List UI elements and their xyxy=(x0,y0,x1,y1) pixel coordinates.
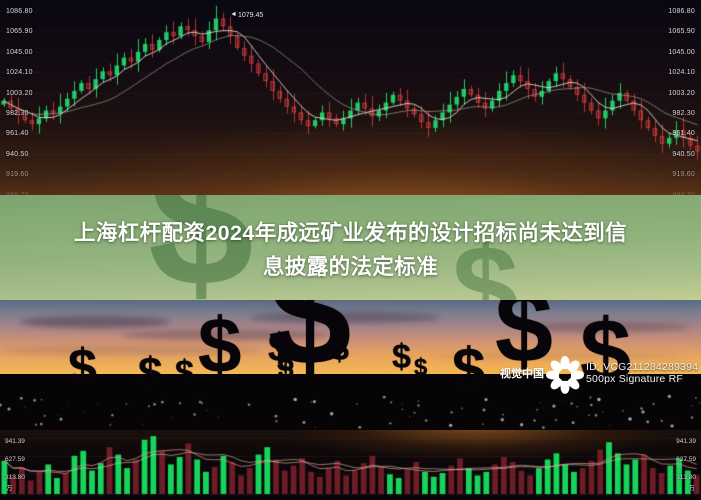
price-axis-label: 940.50 xyxy=(6,151,29,158)
dollar-silhouette: $ xyxy=(175,360,194,387)
price-axis-label: 982.30 xyxy=(672,110,695,117)
price-axis-label: 961.40 xyxy=(6,130,29,137)
volume-axis-label: 313.80 xyxy=(5,474,25,481)
dollar-silhouette: $ xyxy=(198,314,241,376)
candlestick-canvas xyxy=(0,0,701,200)
price-axis-label: 919.60 xyxy=(672,171,695,178)
price-axis-label: 1003.20 xyxy=(668,90,695,97)
volume-chart-panel: 941.39627.59313.80 941.39627.59313.80 万 … xyxy=(0,430,701,500)
watermark-license: 500px Signature RF xyxy=(586,373,698,385)
annotation-arrow-icon: ◄ xyxy=(230,11,237,18)
price-axis-label: 1065.90 xyxy=(6,28,33,35)
price-axis-label: 1024.10 xyxy=(6,69,33,76)
price-axis-label: 1045.00 xyxy=(668,49,695,56)
volume-axis-label: 627.59 xyxy=(676,456,696,463)
volume-unit-left: 万 xyxy=(6,482,13,492)
price-axis-label: 1003.20 xyxy=(6,90,33,97)
dollar-silhouette: $ xyxy=(278,358,294,380)
sunset-photo: $ $ $ $ $ $ $ $ $ $ $ $ $ $ 视觉中国 ID: VCG… xyxy=(0,300,701,430)
volume-axis-label: 941.39 xyxy=(676,438,696,445)
headline-line-2: 息披露的法定标准 xyxy=(263,250,438,281)
dollar-silhouette: $ xyxy=(452,346,485,394)
dollar-silhouette: $ xyxy=(414,358,427,377)
price-axis-label: 961.40 xyxy=(672,130,695,137)
headline-line-1: 上海杠杆配资2024年成远矿业发布的设计招标尚未达到信 xyxy=(74,216,627,247)
price-annotation: ◄1079.45 xyxy=(230,12,263,19)
screenshot-root: 1086.801065.901045.001024.101003.20982.3… xyxy=(0,0,701,500)
volume-axis-label: 941.39 xyxy=(5,438,25,445)
price-axis-label: 1024.10 xyxy=(668,69,695,76)
price-axis-label: 982.30 xyxy=(6,110,29,117)
volume-unit-right: 万 xyxy=(689,482,696,492)
price-chart-panel: 1086.801065.901045.001024.101003.20982.3… xyxy=(0,0,701,200)
volume-canvas xyxy=(0,430,701,500)
volume-axis-label: 627.59 xyxy=(5,456,25,463)
price-axis-label: 1086.80 xyxy=(668,8,695,15)
volume-axis-label: 313.80 xyxy=(676,474,696,481)
watermark-id: ID: VCG211284289394 xyxy=(586,361,698,373)
price-axis-label: 1065.90 xyxy=(668,28,695,35)
watermark: 视觉中国 ID: VCG211284289394 500px Signature… xyxy=(500,356,698,390)
watermark-brand: 视觉中国 xyxy=(500,365,544,381)
dollar-silhouette: $ xyxy=(138,356,162,391)
price-axis-label: 919.60 xyxy=(6,171,29,178)
annotation-value: 1079.45 xyxy=(238,12,263,19)
sunburst-icon xyxy=(548,356,582,390)
dollar-silhouette: $ xyxy=(68,348,97,390)
price-axis-label: 1086.80 xyxy=(6,8,33,15)
price-axis-label: 940.50 xyxy=(672,151,695,158)
headline: 上海杠杆配资2024年成远矿业发布的设计招标尚未达到信 息披露的法定标准 xyxy=(0,195,701,302)
price-axis-label: 1045.00 xyxy=(6,49,33,56)
dollar-silhouette: $ xyxy=(392,344,411,371)
